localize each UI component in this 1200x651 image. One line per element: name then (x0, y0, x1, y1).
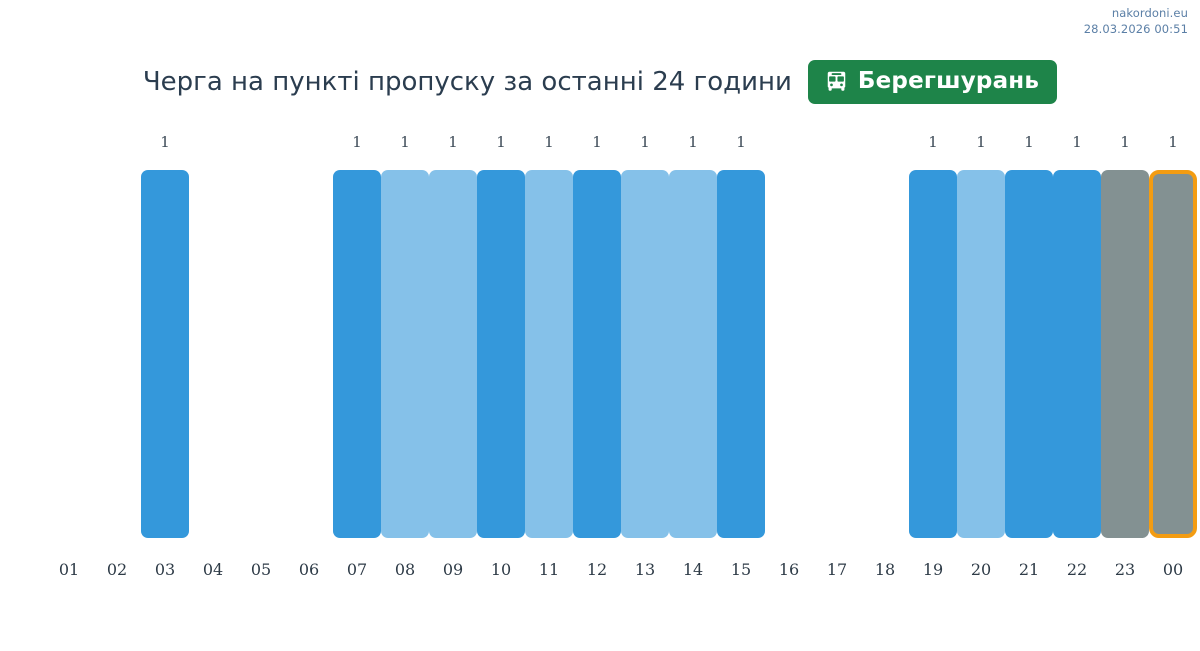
bar-value-label: 1 (717, 135, 765, 150)
bar-slot-15[interactable]: 115 (717, 130, 765, 600)
page-meta: nakordoni.eu 28.03.2026 00:51 (1084, 6, 1188, 37)
queue-bar-chart: 0102103040506107108109110111112113114115… (45, 130, 1178, 600)
checkpoint-name: Берегшурань (858, 70, 1039, 93)
x-axis-tick-label: 23 (1101, 562, 1149, 578)
bar[interactable] (717, 170, 765, 538)
checkpoint-badge[interactable]: Берегшурань (808, 60, 1057, 104)
bar-value-label: 1 (957, 135, 1005, 150)
bar-slot-12[interactable]: 112 (573, 130, 621, 600)
bar[interactable] (477, 170, 525, 538)
page-title: Черга на пункті пропуску за останні 24 г… (143, 67, 792, 97)
bar-slot-07[interactable]: 107 (333, 130, 381, 600)
bar-value-label: 1 (1149, 135, 1197, 150)
timestamp: 28.03.2026 00:51 (1084, 22, 1188, 38)
bar-slot-17: 17 (813, 130, 861, 600)
bar[interactable] (1053, 170, 1101, 538)
x-axis-tick-label: 19 (909, 562, 957, 578)
x-axis-tick-label: 03 (141, 562, 189, 578)
bar-slot-01: 01 (45, 130, 93, 600)
bar[interactable] (957, 170, 1005, 538)
bar-slot-13[interactable]: 113 (621, 130, 669, 600)
bar-slot-21[interactable]: 121 (1005, 130, 1053, 600)
x-axis-tick-label: 04 (189, 562, 237, 578)
bar-value-label: 1 (429, 135, 477, 150)
bar-value-label: 1 (525, 135, 573, 150)
bar[interactable] (333, 170, 381, 538)
site-watermark: nakordoni.eu (1084, 6, 1188, 22)
x-axis-tick-label: 21 (1005, 562, 1053, 578)
bar-slot-04: 04 (189, 130, 237, 600)
bar-slot-20[interactable]: 120 (957, 130, 1005, 600)
x-axis-tick-label: 15 (717, 562, 765, 578)
bar[interactable] (909, 170, 957, 538)
x-axis-tick-label: 13 (621, 562, 669, 578)
bar-value-label: 1 (477, 135, 525, 150)
x-axis-tick-label: 11 (525, 562, 573, 578)
bar-slot-03[interactable]: 103 (141, 130, 189, 600)
bar-slot-08[interactable]: 108 (381, 130, 429, 600)
bar[interactable] (525, 170, 573, 538)
bar-value-label: 1 (909, 135, 957, 150)
x-axis-tick-label: 10 (477, 562, 525, 578)
bar-slot-11[interactable]: 111 (525, 130, 573, 600)
bar-value-label: 1 (1005, 135, 1053, 150)
bar[interactable] (573, 170, 621, 538)
bar[interactable] (381, 170, 429, 538)
x-axis-tick-label: 17 (813, 562, 861, 578)
x-axis-tick-label: 00 (1149, 562, 1197, 578)
bar-slot-18: 18 (861, 130, 909, 600)
bar-value-label: 1 (141, 135, 189, 150)
x-axis-tick-label: 07 (333, 562, 381, 578)
bar-slot-05: 05 (237, 130, 285, 600)
bar-value-label: 1 (1053, 135, 1101, 150)
bar-value-label: 1 (573, 135, 621, 150)
bar-slot-02: 02 (93, 130, 141, 600)
x-axis-tick-label: 05 (237, 562, 285, 578)
bar-slot-10[interactable]: 110 (477, 130, 525, 600)
bar[interactable] (669, 170, 717, 538)
x-axis-tick-label: 20 (957, 562, 1005, 578)
bar-value-label: 1 (1101, 135, 1149, 150)
x-axis-tick-label: 08 (381, 562, 429, 578)
x-axis-tick-label: 14 (669, 562, 717, 578)
bus-icon (824, 69, 849, 94)
bar[interactable] (1101, 170, 1149, 538)
bar-slot-22[interactable]: 122 (1053, 130, 1101, 600)
bar-slot-23[interactable]: 123 (1101, 130, 1149, 600)
bar-slot-06: 06 (285, 130, 333, 600)
x-axis-tick-label: 06 (285, 562, 333, 578)
x-axis-tick-label: 22 (1053, 562, 1101, 578)
bar-value-label: 1 (621, 135, 669, 150)
bar[interactable] (621, 170, 669, 538)
x-axis-tick-label: 02 (93, 562, 141, 578)
x-axis-tick-label: 09 (429, 562, 477, 578)
x-axis-tick-label: 16 (765, 562, 813, 578)
x-axis-tick-label: 18 (861, 562, 909, 578)
bar[interactable] (1005, 170, 1053, 538)
bar-slot-19[interactable]: 119 (909, 130, 957, 600)
bar-value-label: 1 (333, 135, 381, 150)
bar-slot-09[interactable]: 109 (429, 130, 477, 600)
x-axis-tick-label: 01 (45, 562, 93, 578)
bar[interactable] (429, 170, 477, 538)
bar[interactable] (141, 170, 189, 538)
bar-current-hour[interactable] (1149, 170, 1197, 538)
header: Черга на пункті пропуску за останні 24 г… (0, 60, 1200, 104)
bar-slot-14[interactable]: 114 (669, 130, 717, 600)
bar-value-label: 1 (669, 135, 717, 150)
bar-slot-16: 16 (765, 130, 813, 600)
bar-slot-00[interactable]: 100 (1149, 130, 1197, 600)
x-axis-tick-label: 12 (573, 562, 621, 578)
bar-value-label: 1 (381, 135, 429, 150)
